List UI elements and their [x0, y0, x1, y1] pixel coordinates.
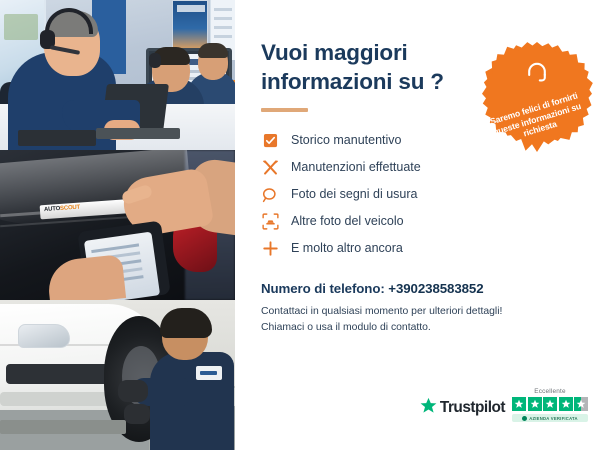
list-item-label: Altre foto del veicolo — [291, 215, 404, 228]
list-item-label: Storico manutentivo — [291, 134, 401, 147]
plus-icon — [261, 240, 279, 258]
trustpilot-wordmark: Trustpilot — [440, 399, 505, 417]
strip-brand-text: AUTO — [44, 206, 60, 213]
laptop-base — [96, 128, 180, 139]
list-item-label: E molto altro ancora — [291, 242, 403, 255]
agent-3-hair — [198, 43, 228, 58]
list-item[interactable]: Manutenzioni effettuate — [261, 154, 578, 181]
rating-word: Eccellente — [534, 388, 566, 395]
photo-column: AUTOSCOUT — [0, 0, 235, 450]
magnifier-icon — [261, 186, 279, 204]
star-filled-1 — [512, 397, 526, 411]
trustpilot-logo[interactable]: Trustpilot — [420, 397, 505, 422]
star-rating — [512, 397, 588, 411]
verified-label: AZIENDA VERIFICATA — [529, 416, 578, 421]
car-lower-bumper — [0, 392, 120, 406]
technician-hand-lower — [46, 254, 126, 300]
mechanic-hair — [160, 308, 212, 338]
page-title: Vuoi maggiori informazioni su ? — [261, 38, 461, 96]
car-viewfinder-icon — [261, 213, 279, 231]
car-grille — [6, 364, 114, 384]
list-item-label: Foto dei segni di usura — [291, 188, 417, 201]
star-filled-3 — [543, 397, 557, 411]
promo-card: AUTOSCOUT — [0, 0, 600, 450]
star-filled-4 — [559, 397, 573, 411]
agent-2-headset-icon — [149, 53, 161, 68]
list-item-label: Manutenzioni effettuate — [291, 161, 421, 174]
phone-number[interactable]: +390238583852 — [388, 281, 483, 296]
headset-icon — [526, 62, 548, 87]
verified-business-badge: AZIENDA VERIFICATA — [512, 414, 588, 422]
trustpilot-rating: Eccellente AZIENDA VERIFICATA — [512, 388, 588, 422]
phone-label: Numero di telefono: — [261, 281, 385, 296]
star-half-5 — [574, 397, 588, 411]
uniform-logo-patch — [196, 366, 222, 380]
star-filled-2 — [528, 397, 542, 411]
mechanic-glove-upper — [118, 380, 148, 402]
contact-line-1: Contattaci in qualsiasi momento per ulte… — [261, 304, 578, 320]
contact-instructions: Contattaci in qualsiasi momento per ulte… — [261, 304, 578, 336]
photo-technician-inspecting-black-car-with-phone: AUTOSCOUT — [0, 150, 235, 300]
phone-number-line[interactable]: Numero di telefono: +390238583852 — [261, 281, 578, 296]
title-divider — [261, 108, 308, 112]
trustpilot-widget[interactable]: Trustpilot Eccellente AZIENDA VERIFICATA — [420, 388, 588, 422]
foreground-keyboard — [18, 130, 96, 146]
list-item[interactable]: Altre foto del veicolo — [261, 208, 578, 235]
mechanic-glove-lower — [124, 404, 150, 424]
photo-mechanic-inspecting-white-car-wheel-on-lift — [0, 300, 235, 450]
vehicle-lift-platform — [0, 420, 126, 434]
car-headlight — [18, 324, 70, 348]
photo-call-center-agents-with-headsets — [0, 0, 235, 150]
content-panel: Vuoi maggiori informazioni su ? Storico … — [235, 0, 600, 450]
strip-brand-accent: SCOUT — [60, 205, 80, 212]
list-item[interactable]: E molto altro ancora — [261, 235, 578, 262]
promo-starburst-badge: Saremo felici di fornirti queste informa… — [482, 42, 592, 152]
trustpilot-star-icon — [420, 397, 437, 419]
crossed-tools-icon — [261, 159, 279, 177]
verified-check-icon — [522, 416, 527, 421]
checkbox-checked-icon — [261, 132, 279, 150]
contact-line-2: Chiamaci o usa il modulo di contatto. — [261, 320, 578, 336]
list-item[interactable]: Foto dei segni di usura — [261, 181, 578, 208]
